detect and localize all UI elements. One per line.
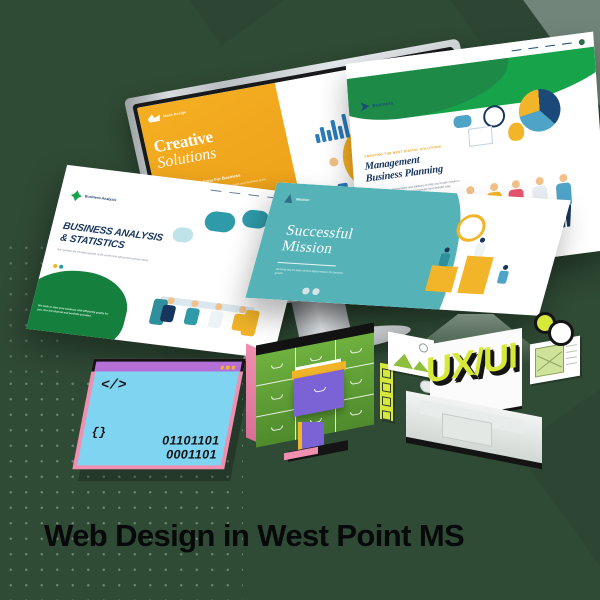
nav-line-3 bbox=[248, 194, 259, 197]
window-button-3[interactable] bbox=[231, 366, 235, 369]
code-window-titlebar-inner bbox=[94, 362, 242, 372]
code-binary-text: 01101101 0001101 bbox=[158, 434, 221, 462]
analysis-logo-text: Business Analysis bbox=[84, 194, 117, 202]
clock-icon bbox=[482, 104, 505, 129]
nav-line-1 bbox=[210, 189, 221, 192]
wireframe-line-4 bbox=[566, 362, 577, 365]
code-window-canvas: </> {} 01101101 0001101 bbox=[77, 372, 239, 466]
window-button-1[interactable] bbox=[220, 366, 224, 369]
speech-bubble-icon-3 bbox=[171, 226, 195, 243]
successful-mission-mockup: Mission Successful Mission We bring you … bbox=[262, 190, 562, 325]
drawer-handle[interactable] bbox=[271, 363, 283, 369]
binary-line-2: 0001101 bbox=[158, 448, 218, 462]
mission-logo: Mission bbox=[284, 194, 311, 204]
gear-icon-2 bbox=[548, 320, 574, 346]
speech-bubble-icon bbox=[453, 114, 472, 128]
nav-line-1 bbox=[511, 49, 521, 52]
analysis-dot-row bbox=[53, 264, 64, 269]
mission-title: Successful Mission bbox=[280, 223, 355, 259]
speech-bubble-icon bbox=[203, 210, 238, 233]
drawer-handle[interactable] bbox=[350, 348, 362, 354]
drawer-handle[interactable] bbox=[350, 379, 362, 385]
tool-icon-3 bbox=[382, 396, 391, 407]
nav-line-3 bbox=[545, 44, 555, 47]
step-block-1 bbox=[425, 265, 458, 292]
pager-dot-1[interactable] bbox=[301, 287, 310, 294]
drawer-handle[interactable] bbox=[310, 356, 322, 362]
tool-icon-4 bbox=[382, 410, 391, 421]
mission-pagination bbox=[301, 287, 320, 295]
analysis-logo: Business Analysis bbox=[70, 190, 118, 206]
pie-chart-icon bbox=[517, 87, 562, 135]
mission-card: Mission Successful Mission We bring you … bbox=[245, 182, 570, 315]
tool-icon-2 bbox=[382, 382, 391, 393]
drawer-handle[interactable] bbox=[271, 425, 283, 431]
code-window-frame: </> {} 01101101 0001101 bbox=[72, 359, 245, 470]
open-drawer-handle[interactable] bbox=[314, 387, 326, 393]
page-title: Web Design in West Point MS bbox=[44, 518, 464, 554]
poster-canvas: Mode Design Creative Solutions Digital C… bbox=[0, 0, 600, 600]
document-icon bbox=[468, 126, 493, 147]
management-logo-text: Business bbox=[372, 100, 393, 108]
person-figure-3 bbox=[497, 265, 511, 284]
code-window: </> {} 01101101 0001101 bbox=[84, 358, 250, 484]
nav-line-2 bbox=[528, 47, 538, 50]
window-controls[interactable] bbox=[220, 366, 235, 369]
ux-ui-scene: UX/UI bbox=[382, 318, 582, 488]
drawer-handle[interactable] bbox=[271, 394, 283, 400]
code-brace-glyph: {} bbox=[90, 426, 107, 440]
mission-mark-icon bbox=[284, 194, 294, 203]
nav-dot-icon bbox=[579, 38, 585, 45]
creative-logo-text: Mode Design bbox=[163, 110, 187, 118]
mission-logo-text: Mission bbox=[296, 197, 311, 202]
drawer-handle[interactable] bbox=[350, 410, 362, 416]
business-mark-icon bbox=[360, 101, 370, 111]
window-button-2[interactable] bbox=[225, 366, 229, 369]
filing-cabinet bbox=[246, 330, 386, 472]
wireframe-cross-2 bbox=[535, 343, 564, 377]
brand-mark-icon bbox=[147, 113, 162, 123]
wireframe-line-1 bbox=[566, 344, 577, 347]
wireframe-line-3 bbox=[566, 356, 577, 359]
nav-line-2 bbox=[229, 192, 240, 195]
bar-chart-icon bbox=[312, 111, 351, 142]
toolbar-panel bbox=[380, 363, 393, 422]
person-head bbox=[328, 156, 339, 166]
step-block-2 bbox=[457, 256, 493, 295]
lightbulb-icon bbox=[508, 122, 525, 142]
nav-line-4 bbox=[562, 42, 572, 45]
person-figure bbox=[438, 247, 452, 266]
analysis-mark-icon bbox=[70, 190, 84, 202]
person-figure-2 bbox=[474, 237, 488, 256]
wireframe-line-2 bbox=[566, 350, 577, 353]
binary-line-1: 01101101 bbox=[161, 434, 221, 448]
code-tag-glyph: </> bbox=[99, 377, 128, 393]
creative-logo: Mode Design bbox=[147, 93, 271, 123]
